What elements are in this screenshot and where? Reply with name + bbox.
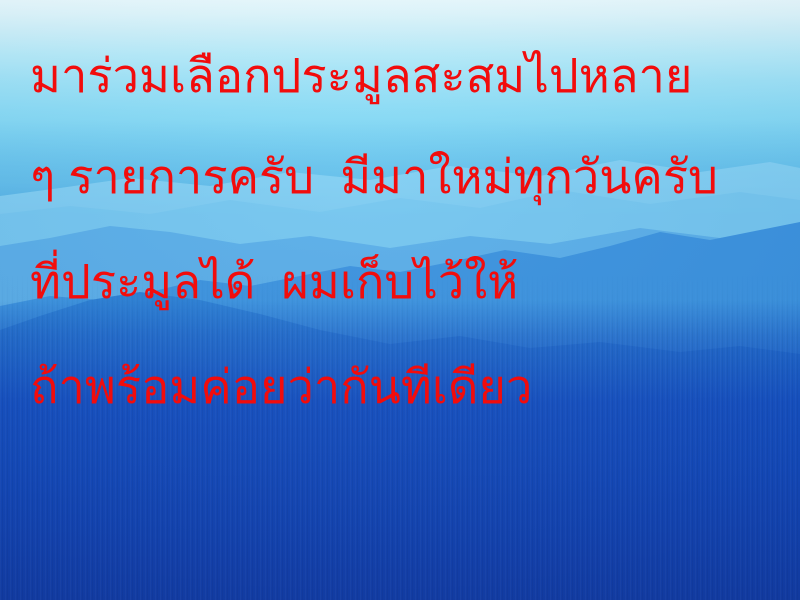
overlay-text-line-3: ที่ประมูลได้ ผมเก็บไว้ให้ xyxy=(30,229,800,334)
overlay-text-line-1: มาร่วมเลือกประมูลสะสมไปหลาย xyxy=(30,28,800,124)
image-canvas: มาร่วมเลือกประมูลสะสมไปหลาย ๆ รายการครับ… xyxy=(0,0,800,600)
overlay-text-line-4: ถ้าพร้อมค่อยว่ากันทีเดียว xyxy=(30,334,800,439)
overlay-text-line-2: ๆ รายการครับ มีมาใหม่ทุกวันครับ xyxy=(30,124,800,229)
thai-text-overlay: มาร่วมเลือกประมูลสะสมไปหลาย ๆ รายการครับ… xyxy=(0,0,800,600)
